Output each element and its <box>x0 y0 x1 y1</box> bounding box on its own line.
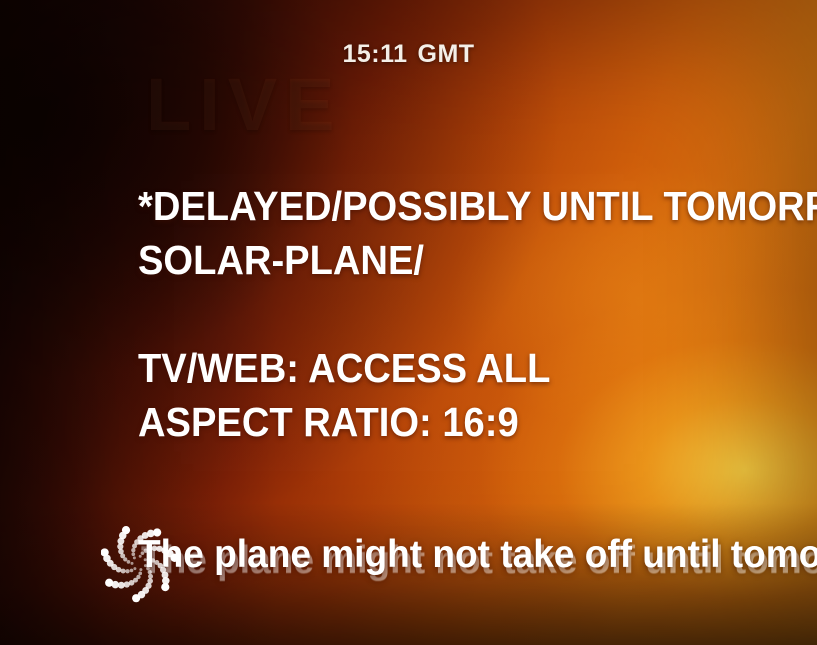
broadcast-screen: LIVE 15:11GMT *DELAYED/POSSIBLY UNTIL TO… <box>0 0 817 645</box>
spiral-dot-logo-icon <box>101 523 179 603</box>
clock-time: 15:11 <box>342 40 407 68</box>
teletext-line: ASPECT RATIO: 16:9 <box>138 402 789 443</box>
ticker-headline: The plane might not take off until tomor… <box>138 528 817 582</box>
teletext-body: *DELAYED/POSSIBLY UNTIL TOMORROW* SOLAR-… <box>138 186 817 456</box>
teletext-line: TV/WEB: ACCESS ALL <box>138 348 789 389</box>
clock: 15:11GMT <box>0 40 817 69</box>
live-watermark: LIVE <box>146 62 342 147</box>
teletext-line: *DELAYED/POSSIBLY UNTIL TOMORROW* <box>138 186 789 227</box>
clock-timezone: GMT <box>418 40 475 68</box>
teletext-line-blank <box>138 294 789 335</box>
teletext-line: SOLAR-PLANE/ <box>138 240 789 281</box>
